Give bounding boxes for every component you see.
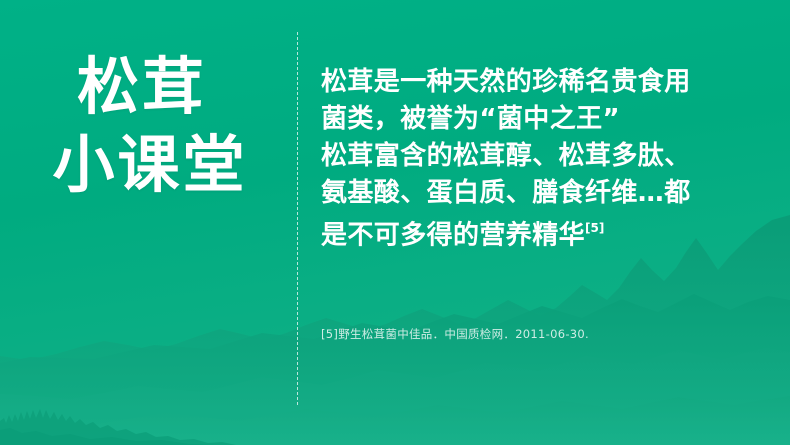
title-block: 松茸 小课堂 xyxy=(0,48,290,204)
mountain-layer-mid xyxy=(0,294,790,445)
body-line-5: 是不可多得的营养精华[5] xyxy=(321,212,776,255)
citation-superscript-marker: [5] xyxy=(585,221,604,235)
page-title-line-1: 松茸 xyxy=(0,48,290,126)
page-title-line-2: 小课堂 xyxy=(10,126,290,204)
body-line-2: 菌类，被誉为“菌中之王” xyxy=(321,101,776,138)
citation-footnote: [5]野生松茸菌中佳品．中国质检网．2011-06-30. xyxy=(321,326,589,342)
body-line-1: 松茸是一种天然的珍稀名贵食用 xyxy=(321,64,776,101)
body-line-5-text: 是不可多得的营养精华 xyxy=(321,221,585,251)
body-line-3: 松茸富含的松茸醇、松茸多肽、 xyxy=(321,138,776,175)
forest-treeline-silhouette xyxy=(0,409,236,445)
body-line-4: 氨基酸、蛋白质、膳食纤维…都 xyxy=(321,175,776,212)
vertical-dashed-divider xyxy=(297,32,298,405)
mountain-layer-near xyxy=(0,348,790,445)
mountain-layer-front xyxy=(0,396,790,445)
poster-canvas: 松茸 小课堂 松茸是一种天然的珍稀名贵食用 菌类，被誉为“菌中之王” 松茸富含的… xyxy=(0,0,790,445)
body-text-block: 松茸是一种天然的珍稀名贵食用 菌类，被誉为“菌中之王” 松茸富含的松茸醇、松茸多… xyxy=(321,64,776,255)
